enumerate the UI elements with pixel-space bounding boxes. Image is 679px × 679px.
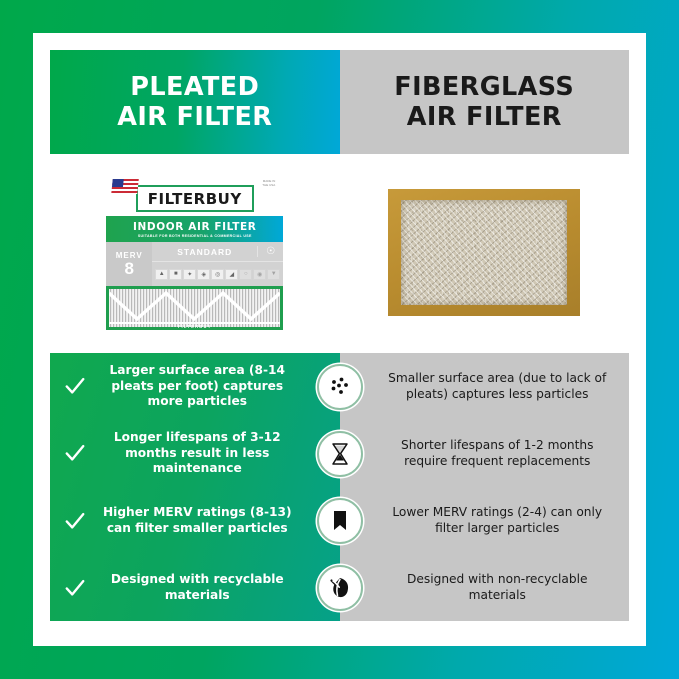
header-fiberglass-line2: AIR FILTER [407,102,562,132]
product-image-row: MADE INTHE USA FILTERBUY INDOOR AIR FILT… [50,154,629,350]
row-pleated-cell: Designed with recyclable materials [50,572,340,604]
usa-flag-icon [111,179,139,194]
gradient-border-frame: PLEATED AIR FILTER FIBERGLASS AIR FILTER… [0,0,679,679]
row-pleated-text: Larger surface area (8-14 pleats per foo… [95,363,300,411]
fiberglass-mesh-texture [401,200,567,305]
fiberglass-filter-image [388,189,580,316]
check-icon [64,510,86,532]
comparison-row: Higher MERV ratings (8-13) can filter sm… [50,487,629,554]
filter-capability-icons: ▲ ■ ✦ ◈ ◎ ◢ ○ ◉ ▼ [152,262,283,286]
check-icon [64,577,86,599]
capability-icon-dust: ▲ [155,269,168,280]
merv-value: 8 [125,260,134,277]
header-pleated-title: PLEATED AIR FILTER [117,72,272,132]
row-fiberglass-text: Designed with non-recyclable materials [382,572,614,604]
certification-seal-icon: ☉ [257,246,283,257]
infographic-card: PLEATED AIR FILTER FIBERGLASS AIR FILTER… [33,33,646,646]
indoor-air-filter-subtitle: SUITABLE FOR BOTH RESIDENTIAL & COMMERCI… [138,234,252,238]
capability-icon-odor-disabled: ◉ [253,269,266,280]
row-fiberglass-text: Shorter lifespans of 1-2 months require … [382,438,614,470]
header-fiberglass: FIBERGLASS AIR FILTER [340,50,630,154]
filter-spec-panel: MERV 8 STANDARD ☉ ▲ ■ ✦ [106,242,283,286]
header-pleated: PLEATED AIR FILTER [50,50,340,154]
row-pleated-text: Designed with recyclable materials [95,572,300,604]
pleated-filter-header: MADE INTHE USA FILTERBUY [106,174,283,216]
bookmark-icon [317,498,363,544]
capability-icon-pollen: ✦ [183,269,196,280]
row-fiberglass-cell: Shorter lifespans of 1-2 months require … [340,438,630,470]
row-pleated-cell: Longer lifespans of 3-12 months result i… [50,430,340,478]
filterbuy-brand-text: FILTERBUY [148,190,242,208]
header-pleated-line1: PLEATED [130,72,259,102]
capability-icon-particle: ■ [169,269,182,280]
made-in-usa-note: MADE INTHE USA [262,180,275,188]
header-pleated-line2: AIR FILTER [117,102,272,132]
filter-spec-right: STANDARD ☉ ▲ ■ ✦ ◈ ◎ ◢ ○ ◉ [152,242,283,286]
comparison-row: Larger surface area (8-14 pleats per foo… [50,353,629,420]
grade-row: STANDARD ☉ [152,242,283,262]
pleated-media-graphic: FILTERBUY [106,286,283,330]
row-pleated-text: Longer lifespans of 3-12 months result i… [95,430,300,478]
comparison-row: Longer lifespans of 3-12 months result i… [50,420,629,487]
pleat-support-wires-icon [109,289,280,327]
particles-icon [317,364,363,410]
indoor-air-filter-title: INDOOR AIR FILTER [133,221,256,233]
header-row: PLEATED AIR FILTER FIBERGLASS AIR FILTER [50,50,629,154]
capability-icon-virus-disabled: ○ [239,269,252,280]
header-fiberglass-title: FIBERGLASS AIR FILTER [394,72,574,132]
check-icon [64,442,86,464]
indoor-air-filter-band: INDOOR AIR FILTER SUITABLE FOR BOTH RESI… [106,216,283,242]
hourglass-icon [317,431,363,477]
capability-icon-smoke: ◢ [225,269,238,280]
filterbuy-logo-box: FILTERBUY [136,185,254,212]
fiberglass-product-cell [340,154,630,350]
row-fiberglass-cell: Smaller surface area (due to lack of ple… [340,371,630,403]
pleated-filter-image: MADE INTHE USA FILTERBUY INDOOR AIR FILT… [106,174,283,330]
pleated-footer-brand: FILTERBUY [106,324,283,329]
capability-icon-voc-disabled: ▼ [267,269,280,280]
merv-badge: MERV 8 [106,242,152,286]
pleat-texture [109,289,280,327]
comparison-row: Designed with recyclable materials Desig… [50,554,629,621]
capability-icon-bacteria: ◎ [211,269,224,280]
row-pleated-cell: Higher MERV ratings (8-13) can filter sm… [50,505,340,537]
leaf-icon [317,565,363,611]
comparison-rows: Larger surface area (8-14 pleats per foo… [50,353,629,621]
comparison-section: Larger surface area (8-14 pleats per foo… [50,353,629,621]
capability-icon-mold: ◈ [197,269,210,280]
row-fiberglass-cell: Designed with non-recyclable materials [340,572,630,604]
pleated-product-cell: MADE INTHE USA FILTERBUY INDOOR AIR FILT… [50,154,340,350]
check-icon [64,375,86,397]
row-fiberglass-text: Smaller surface area (due to lack of ple… [382,371,614,403]
row-pleated-cell: Larger surface area (8-14 pleats per foo… [50,363,340,411]
header-fiberglass-line1: FIBERGLASS [394,72,574,102]
row-fiberglass-text: Lower MERV ratings (2-4) can only filter… [382,505,614,537]
row-pleated-text: Higher MERV ratings (8-13) can filter sm… [95,505,300,537]
grade-label: STANDARD [152,247,257,257]
row-fiberglass-cell: Lower MERV ratings (2-4) can only filter… [340,505,630,537]
